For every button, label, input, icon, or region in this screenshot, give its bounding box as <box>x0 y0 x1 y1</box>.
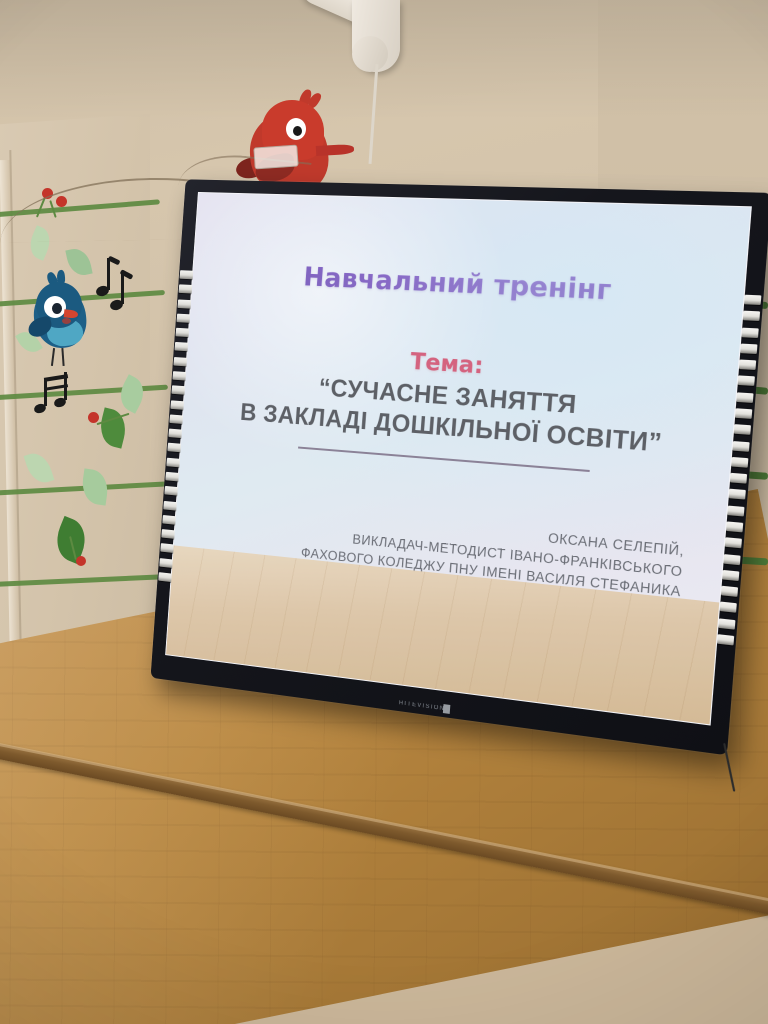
whiteboard-shortcut-key[interactable] <box>178 299 192 308</box>
whiteboard-shortcut-key[interactable] <box>164 486 178 496</box>
whiteboard-brand-mark <box>443 704 450 714</box>
cable-clip <box>253 144 298 169</box>
whiteboard-shortcut-key[interactable] <box>736 392 753 403</box>
whiteboard-shortcut-key[interactable] <box>175 342 189 351</box>
whiteboard-shortcut-key[interactable] <box>739 360 756 371</box>
music-note-stem <box>107 258 110 290</box>
projector-mount-joint <box>352 36 388 72</box>
whiteboard-shortcut-key[interactable] <box>734 424 751 435</box>
whiteboard-shortcut-key[interactable] <box>163 500 177 510</box>
whiteboard-shortcut-key[interactable] <box>173 357 187 366</box>
slide-heading: Навчальний тренінг <box>218 259 712 312</box>
whiteboard-shortcut-key[interactable] <box>171 386 185 395</box>
whiteboard-shortcut-key[interactable] <box>741 327 758 337</box>
whiteboard-shortcut-key[interactable] <box>722 570 739 581</box>
slide-divider <box>298 447 590 473</box>
red-bird-pupil <box>293 126 302 136</box>
whiteboard-shortcut-key[interactable] <box>738 376 755 387</box>
whiteboard-shortcut-key[interactable] <box>180 270 194 279</box>
whiteboard-shortcut-key[interactable] <box>177 313 191 322</box>
whiteboard-shortcut-key[interactable] <box>721 586 738 597</box>
whiteboard-shortcut-key[interactable] <box>179 285 193 294</box>
whiteboard-shortcut-key[interactable] <box>723 554 740 565</box>
whiteboard-shortcut-key[interactable] <box>170 400 184 409</box>
whiteboard-shortcut-key[interactable] <box>743 311 760 321</box>
whiteboard-shortcut-key[interactable] <box>160 543 174 553</box>
whiteboard-shortcut-key[interactable] <box>727 505 744 516</box>
whiteboard-shortcut-key[interactable] <box>725 537 742 548</box>
blue-bird-cheek <box>62 318 71 324</box>
whiteboard-screen[interactable]: Навчальний тренінг Тема: “СУЧАСНЕ ЗАНЯТТ… <box>165 192 752 726</box>
whiteboard-shortcut-key[interactable] <box>165 472 179 482</box>
whiteboard-shortcut-key[interactable] <box>726 521 743 532</box>
whiteboard-shortcut-key[interactable] <box>159 558 173 568</box>
whiteboard-shortcut-key[interactable] <box>166 457 180 467</box>
whiteboard-shortcut-key[interactable] <box>172 371 186 380</box>
whiteboard-shortcut-key[interactable] <box>718 618 735 629</box>
whiteboard-shortcut-key[interactable] <box>732 441 749 452</box>
whiteboard-shortcut-key[interactable] <box>730 473 747 484</box>
classroom-scene: Навчальний тренінг Тема: “СУЧАСНЕ ЗАНЯТТ… <box>0 0 768 1024</box>
whiteboard-shortcut-key[interactable] <box>731 457 748 468</box>
whiteboard-shortcut-key[interactable] <box>167 443 181 453</box>
interactive-whiteboard[interactable]: Навчальний тренінг Тема: “СУЧАСНЕ ЗАНЯТТ… <box>151 179 768 755</box>
music-note-stem <box>44 378 47 406</box>
whiteboard-shortcut-key[interactable] <box>168 429 182 439</box>
whiteboard-shortcut-key[interactable] <box>729 489 746 500</box>
whiteboard-shortcut-key[interactable] <box>744 295 761 305</box>
whiteboard-brand-label: HITEVISION <box>399 700 446 712</box>
whiteboard-shortcut-key[interactable] <box>735 408 752 419</box>
whiteboard-shortcut-key[interactable] <box>740 343 757 353</box>
whiteboard-shortcut-key[interactable] <box>158 572 172 582</box>
whiteboard-shortcut-key[interactable] <box>717 634 734 645</box>
mural-berry <box>88 412 99 423</box>
whiteboard-shortcut-key[interactable] <box>169 414 183 423</box>
projected-slide: Навчальний тренінг Тема: “СУЧАСНЕ ЗАНЯТТ… <box>166 193 751 724</box>
whiteboard-shortcut-key[interactable] <box>720 602 737 613</box>
whiteboard-frame: Навчальний тренінг Тема: “СУЧАСНЕ ЗАНЯТТ… <box>151 179 768 755</box>
whiteboard-shortcut-key[interactable] <box>161 529 175 539</box>
whiteboard-shortcut-key[interactable] <box>162 515 176 525</box>
mural-berry <box>76 556 86 566</box>
whiteboard-shortcut-key[interactable] <box>176 328 190 337</box>
music-note-stem <box>121 272 124 304</box>
blue-bird-pupil <box>52 303 62 314</box>
